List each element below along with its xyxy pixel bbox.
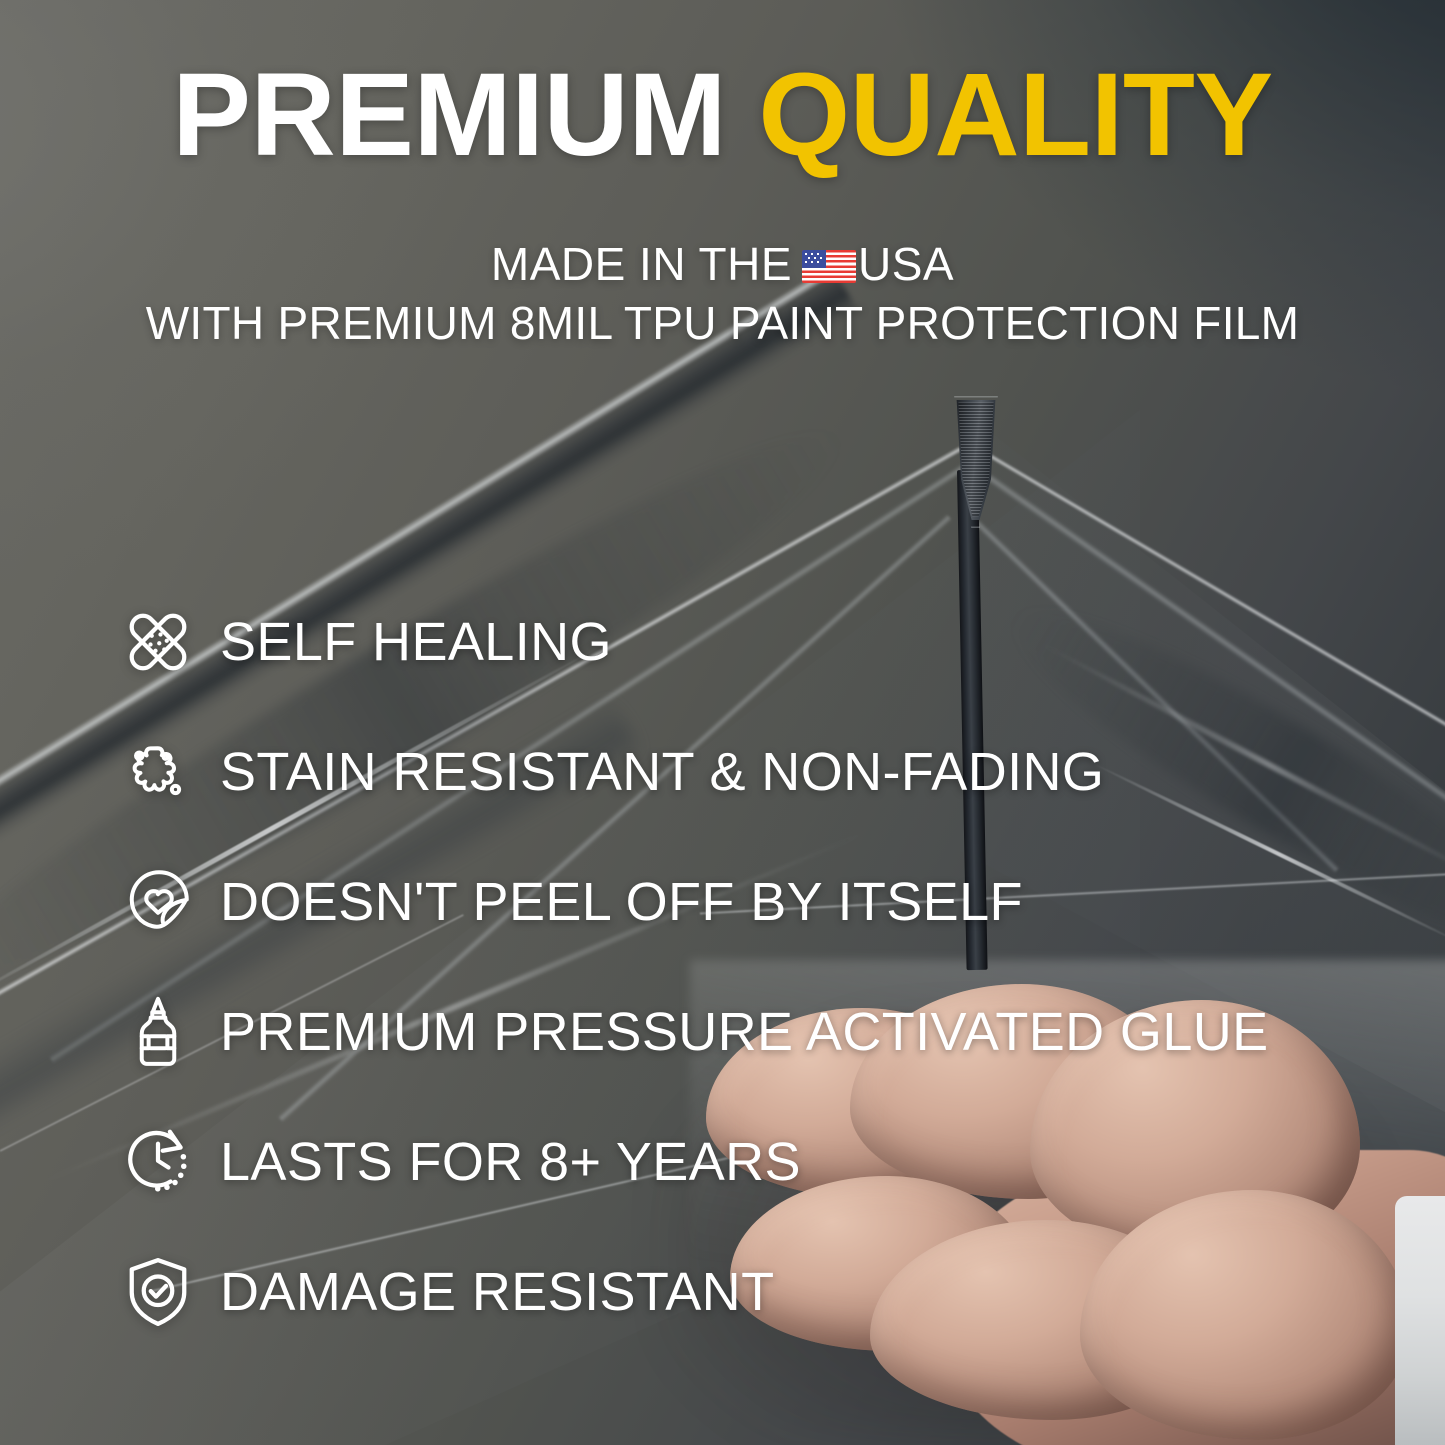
feature-item-lifespan: LASTS FOR 8+ YEARS [112,1116,1312,1208]
feature-list: SELF HEALING STAIN RESISTANT & NON-FADIN… [112,596,1312,1376]
headline-word-premium: PREMIUM [172,49,726,181]
peeling-sticker-heart-icon [112,856,204,948]
feature-label: LASTS FOR 8+ YEARS [220,1131,801,1193]
headline-word-quality: QUALITY [758,49,1272,181]
feature-label: DAMAGE RESISTANT [220,1261,774,1323]
subtitle-line1-prefix: MADE IN THE [491,238,792,290]
subtitle-line1-suffix: USA [858,238,954,290]
product-feature-graphic: PREMIUM QUALITY MADE IN THEUSA WITH PREM… [0,0,1445,1445]
feature-item-damage-resistant: DAMAGE RESISTANT [112,1246,1312,1338]
feature-label: SELF HEALING [220,611,612,673]
glue-bottle-icon [112,986,204,1078]
bandage-icon [112,596,204,688]
feature-item-no-peel: DOESN'T PEEL OFF BY ITSELF [112,856,1312,948]
shirt-cuff [1395,1196,1445,1445]
subtitle-made-in-usa: MADE IN THEUSA [0,237,1445,291]
us-flag-icon [802,250,856,283]
feature-label: STAIN RESISTANT & NON-FADING [220,741,1104,803]
shield-check-icon [112,1246,204,1338]
subtitle-film-spec: WITH PREMIUM 8MIL TPU PAINT PROTECTION F… [0,296,1445,350]
stain-splat-icon [112,726,204,818]
feature-item-self-healing: SELF HEALING [112,596,1312,688]
feature-label: PREMIUM PRESSURE ACTIVATED GLUE [220,1001,1269,1063]
clock-arrow-icon [112,1116,204,1208]
feature-item-glue: PREMIUM PRESSURE ACTIVATED GLUE [112,986,1312,1078]
page-title: PREMIUM QUALITY [0,56,1445,174]
feature-label: DOESN'T PEEL OFF BY ITSELF [220,871,1023,933]
feature-item-stain-resistant: STAIN RESISTANT & NON-FADING [112,726,1312,818]
